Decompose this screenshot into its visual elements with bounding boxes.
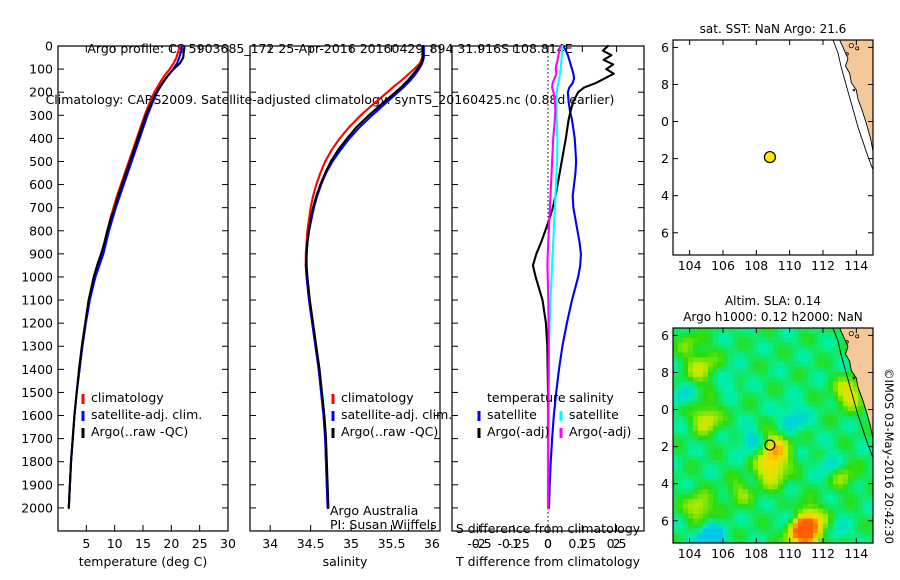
- sla-cell: [823, 338, 829, 343]
- svg-text:0.5: 0.5: [607, 536, 627, 551]
- sla-cell: [733, 348, 739, 353]
- sla-cell: [773, 519, 779, 524]
- sla-cell: [833, 514, 839, 519]
- sla-cell: [748, 533, 754, 538]
- sla-cell: [783, 382, 789, 387]
- sla-cell: [743, 509, 749, 514]
- sla-cell: [833, 489, 839, 494]
- sla-cell: [828, 519, 834, 524]
- sla-cell: [858, 401, 864, 406]
- attribution: Argo AustraliaPI: Susan Wijffels: [330, 503, 437, 532]
- sla-cell: [773, 470, 779, 475]
- sla-cell: [753, 333, 759, 338]
- sla-cell: [808, 528, 814, 533]
- sla-cell: [783, 455, 789, 460]
- sla-cell: [698, 338, 704, 343]
- sla-cell: [683, 401, 689, 406]
- sla-cell: [843, 436, 849, 441]
- sla-cell: [823, 348, 829, 353]
- sla-cell: [688, 499, 694, 504]
- sla-cell: [703, 362, 709, 367]
- sla-cell: [743, 367, 749, 372]
- sla-cell: [788, 465, 794, 470]
- sla-cell: [758, 455, 764, 460]
- sla-cell: [733, 333, 739, 338]
- sla-cell: [813, 475, 819, 480]
- sla-cell: [808, 411, 814, 416]
- sla-cell: [743, 352, 749, 357]
- sla-cell: [818, 431, 824, 436]
- sla-cell: [768, 528, 774, 533]
- sla-cell: [698, 372, 704, 377]
- sla-cell: [748, 465, 754, 470]
- sla-cell: [798, 528, 804, 533]
- sla-cell: [723, 372, 729, 377]
- sla-cell: [833, 499, 839, 504]
- sla-cell: [773, 338, 779, 343]
- sla-cell: [808, 479, 814, 484]
- sla-cell: [828, 367, 834, 372]
- sla-cell: [803, 484, 809, 489]
- sla-cell: [813, 426, 819, 431]
- sla-cell: [768, 377, 774, 382]
- sla-cell: [743, 455, 749, 460]
- sla-cell: [728, 426, 734, 431]
- sla-cell: [798, 392, 804, 397]
- sla-cell: [723, 406, 729, 411]
- sla-cell: [828, 455, 834, 460]
- sla-cell: [768, 499, 774, 504]
- svg-text:700: 700: [29, 200, 53, 215]
- sla-cell: [833, 450, 839, 455]
- sla-cell: [788, 348, 794, 353]
- sla-cell: [728, 367, 734, 372]
- sla-cell: [818, 436, 824, 441]
- sla-cell: [838, 401, 844, 406]
- sla-cell: [728, 411, 734, 416]
- sla-cell: [798, 352, 804, 357]
- sla-cell: [753, 509, 759, 514]
- sla-cell: [783, 411, 789, 416]
- sla-cell: [843, 421, 849, 426]
- sla-cell: [798, 504, 804, 509]
- sla-cell: [808, 372, 814, 377]
- sla-cell: [678, 396, 684, 401]
- sla-cell: [733, 489, 739, 494]
- sla-cell: [673, 465, 679, 470]
- sla-cell: [778, 523, 784, 528]
- profile-plot-area: 0100200300400500600700800900100011001200…: [0, 0, 660, 580]
- sla-cell: [773, 362, 779, 367]
- sla-cell: [688, 352, 694, 357]
- sla-cell: [758, 431, 764, 436]
- sla-cell: [763, 377, 769, 382]
- sla-cell: [733, 445, 739, 450]
- sla-cell: [688, 411, 694, 416]
- sla-cell: [698, 406, 704, 411]
- svg-text:104: 104: [678, 258, 702, 273]
- sla-cell: [708, 426, 714, 431]
- sla-cell: [718, 489, 724, 494]
- sla-cell: [788, 440, 794, 445]
- sla-cell: [693, 328, 699, 333]
- sla-cell: [673, 392, 679, 397]
- sla-cell: [683, 416, 689, 421]
- sla-cell: [743, 489, 749, 494]
- sla-cell: [798, 431, 804, 436]
- sla-cell: [673, 494, 679, 499]
- sla-cell: [853, 460, 859, 465]
- sla-cell: [743, 445, 749, 450]
- sla-cell: [803, 348, 809, 353]
- sla-cell: [723, 387, 729, 392]
- sla-cell: [728, 484, 734, 489]
- sla-cell: [818, 406, 824, 411]
- sla-cell: [758, 348, 764, 353]
- sla-cell: [798, 357, 804, 362]
- sla-cell: [858, 499, 864, 504]
- sla-cell: [858, 479, 864, 484]
- sla-cell: [838, 455, 844, 460]
- sla-cell: [813, 382, 819, 387]
- sla-cell: [773, 396, 779, 401]
- sla-cell: [803, 494, 809, 499]
- sla-cell: [768, 343, 774, 348]
- sla-cell: [728, 523, 734, 528]
- sla-cell: [843, 396, 849, 401]
- sla-cell: [803, 377, 809, 382]
- sla-cell: [788, 509, 794, 514]
- sla-cell: [838, 392, 844, 397]
- sla-cell: [848, 494, 854, 499]
- sla-cell: [863, 499, 869, 504]
- sla-cell: [718, 533, 724, 538]
- sla-cell: [763, 426, 769, 431]
- sla-cell: [783, 499, 789, 504]
- sla-cell: [698, 392, 704, 397]
- sla-cell: [818, 528, 824, 533]
- sla-cell: [763, 494, 769, 499]
- sla-cell: [708, 479, 714, 484]
- svg-text:400: 400: [29, 131, 53, 146]
- sla-cell: [713, 470, 719, 475]
- attribution-line-2: PI: Susan Wijffels: [330, 517, 437, 532]
- sla-cell: [728, 519, 734, 524]
- sla-cell: [798, 396, 804, 401]
- sla-cell: [708, 523, 714, 528]
- sla-cell: [708, 416, 714, 421]
- sla-cell: [708, 489, 714, 494]
- sla-cell: [813, 348, 819, 353]
- sla-cell: [693, 401, 699, 406]
- sla-cell: [788, 377, 794, 382]
- sla-cell: [823, 431, 829, 436]
- sla-cell: [733, 450, 739, 455]
- sla-cell: [738, 440, 744, 445]
- sla-cell: [848, 445, 854, 450]
- sla-cell: [833, 494, 839, 499]
- sla-cell: [863, 489, 869, 494]
- sla-cell: [683, 479, 689, 484]
- sla-cell: [743, 470, 749, 475]
- sla-cell: [713, 519, 719, 524]
- sla-cell: [858, 440, 864, 445]
- sla-cell: [823, 445, 829, 450]
- sla-cell: [808, 343, 814, 348]
- sla-cell: [703, 401, 709, 406]
- sla-cell: [843, 499, 849, 504]
- sla-cell: [748, 406, 754, 411]
- sla-cell: [678, 343, 684, 348]
- sla-cell: [708, 431, 714, 436]
- sla-cell: [673, 431, 679, 436]
- sla-cell: [813, 484, 819, 489]
- sla-cell: [748, 431, 754, 436]
- sla-cell: [808, 470, 814, 475]
- sla-cell: [843, 504, 849, 509]
- sla-cell: [738, 509, 744, 514]
- sla-cell: [768, 455, 774, 460]
- sla-cell: [843, 470, 849, 475]
- sla-cell: [743, 426, 749, 431]
- sla-cell: [833, 465, 839, 470]
- sla-cell: [778, 514, 784, 519]
- sla-cell: [853, 523, 859, 528]
- sla-cell: [698, 333, 704, 338]
- sla-cell: [738, 528, 744, 533]
- sla-cell: [673, 357, 679, 362]
- sla-cell: [808, 431, 814, 436]
- sla-cell: [793, 523, 799, 528]
- sla-cell: [708, 333, 714, 338]
- sla-cell: [808, 352, 814, 357]
- sla-cell: [743, 475, 749, 480]
- svg-text:1100: 1100: [21, 293, 53, 308]
- sla-cell: [803, 343, 809, 348]
- sla-cell: [833, 509, 839, 514]
- sla-cell: [678, 475, 684, 480]
- maps-plot-area: 104106108110112114-26-28-30-32-34-36sat.…: [660, 0, 900, 580]
- sla-cell: [863, 504, 869, 509]
- sla-cell: [838, 338, 844, 343]
- sla-cell: [683, 382, 689, 387]
- sla-cell: [808, 367, 814, 372]
- sla-cell: [783, 484, 789, 489]
- sla-cell: [768, 372, 774, 377]
- sla-cell: [728, 421, 734, 426]
- sla-cell: [798, 514, 804, 519]
- sla-cell: [833, 382, 839, 387]
- sla-cell: [823, 421, 829, 426]
- sla-cell: [778, 479, 784, 484]
- svg-text:112: 112: [811, 546, 835, 561]
- legend-header: salinity: [569, 390, 614, 405]
- sla-cell: [678, 519, 684, 524]
- sla-cell: [693, 519, 699, 524]
- sla-cell: [713, 499, 719, 504]
- legend-header: temperature: [487, 390, 566, 405]
- sla-cell: [803, 533, 809, 538]
- sla-cell: [688, 440, 694, 445]
- sla-cell: [808, 514, 814, 519]
- sla-cell: [718, 431, 724, 436]
- sla-cell: [678, 411, 684, 416]
- sla-cell: [853, 514, 859, 519]
- sla-cell: [718, 455, 724, 460]
- sla-cell: [838, 450, 844, 455]
- sla-cell: [688, 514, 694, 519]
- salinity-legend: climatologysatellite-adj. clim.Argo(..ra…: [333, 390, 452, 439]
- sla-cell: [853, 440, 859, 445]
- sla-cell: [708, 519, 714, 524]
- sla-cell: [823, 377, 829, 382]
- sla-cell: [678, 465, 684, 470]
- sla-cell: [773, 499, 779, 504]
- sla-cell: [828, 528, 834, 533]
- sla-cell: [683, 504, 689, 509]
- sla-cell: [728, 475, 734, 480]
- sla-cell: [703, 367, 709, 372]
- sla-cell: [738, 416, 744, 421]
- sla-cell: [788, 431, 794, 436]
- sla-cell: [703, 494, 709, 499]
- sla-cell: [728, 533, 734, 538]
- sla-cell: [743, 519, 749, 524]
- sla-cell: [708, 509, 714, 514]
- sla-cell: [793, 509, 799, 514]
- sla-cell: [703, 484, 709, 489]
- svg-text:36: 36: [424, 536, 440, 551]
- sla-cell: [748, 455, 754, 460]
- svg-text:2000: 2000: [21, 500, 53, 515]
- sla-cell: [828, 533, 834, 538]
- legend-label: climatology: [341, 390, 414, 405]
- sla-cell: [843, 426, 849, 431]
- sla-cell: [778, 421, 784, 426]
- sla-cell: [818, 362, 824, 367]
- sla-cell: [828, 484, 834, 489]
- sla-cell: [788, 396, 794, 401]
- svg-text:108: 108: [744, 258, 768, 273]
- sla-cell: [698, 465, 704, 470]
- sla-cell: [703, 387, 709, 392]
- sla-cell: [683, 445, 689, 450]
- sla-cell: [808, 362, 814, 367]
- sla-cell: [723, 523, 729, 528]
- svg-text:500: 500: [29, 154, 53, 169]
- sla-cell: [703, 509, 709, 514]
- sla-cell: [688, 460, 694, 465]
- sla-cell: [688, 357, 694, 362]
- sla-cell: [783, 333, 789, 338]
- sla-cell: [783, 504, 789, 509]
- sla-cell: [753, 523, 759, 528]
- sla-cell: [718, 416, 724, 421]
- sla-cell: [683, 343, 689, 348]
- sla-cell: [828, 514, 834, 519]
- sla-cell: [738, 401, 744, 406]
- sla-cell: [833, 372, 839, 377]
- sla-cell: [713, 348, 719, 353]
- sla-cell: [793, 328, 799, 333]
- sla-cell: [853, 426, 859, 431]
- sla-cell: [713, 533, 719, 538]
- sla-cell: [848, 475, 854, 480]
- sla-cell: [723, 377, 729, 382]
- sla-cell: [683, 514, 689, 519]
- sla-cell: [703, 421, 709, 426]
- sla-cell: [728, 372, 734, 377]
- sla-cell: [748, 475, 754, 480]
- sla-cell: [698, 440, 704, 445]
- sla-cell: [678, 401, 684, 406]
- sla-cell: [843, 445, 849, 450]
- sla-cell: [833, 348, 839, 353]
- svg-text:34.5: 34.5: [297, 536, 325, 551]
- sla-cell: [718, 528, 724, 533]
- sla-cell: [823, 436, 829, 441]
- sla-cell: [698, 523, 704, 528]
- sla-cell: [783, 445, 789, 450]
- map-panels: 104106108110112114-26-28-30-32-34-36sat.…: [660, 0, 900, 580]
- sla-cell: [788, 484, 794, 489]
- sla-cell: [813, 411, 819, 416]
- sla-cell: [708, 450, 714, 455]
- sla-cell: [838, 396, 844, 401]
- difference-profile: -2-1012T difference from climatology-0.5…: [452, 46, 644, 569]
- sla-cell: [683, 328, 689, 333]
- sla-cell: [793, 348, 799, 353]
- sla-cell: [793, 357, 799, 362]
- sla-cell: [678, 416, 684, 421]
- sla-cell: [783, 406, 789, 411]
- sla-cell: [758, 499, 764, 504]
- sla-cell: [758, 416, 764, 421]
- sla-cell: [673, 504, 679, 509]
- sla-cell: [853, 509, 859, 514]
- sla-cell: [713, 416, 719, 421]
- sla-cell: [743, 514, 749, 519]
- svg-text:114: 114: [844, 546, 868, 561]
- sla-cell: [673, 499, 679, 504]
- sla-cell: [823, 479, 829, 484]
- sla-cell: [708, 392, 714, 397]
- sla-cell: [753, 411, 759, 416]
- sla-cell: [693, 450, 699, 455]
- sla-cell: [833, 436, 839, 441]
- sla-cell: [793, 338, 799, 343]
- sla-cell: [683, 333, 689, 338]
- sla-cell: [853, 479, 859, 484]
- sla-cell: [793, 372, 799, 377]
- sla-cell: [733, 401, 739, 406]
- sla-cell: [728, 479, 734, 484]
- sla-cell: [798, 465, 804, 470]
- sla-cell: [783, 392, 789, 397]
- sla-cell: [738, 421, 744, 426]
- sla-cell: [793, 475, 799, 480]
- sla-cell: [733, 455, 739, 460]
- svg-text:1300: 1300: [21, 339, 53, 354]
- sla-cell: [718, 460, 724, 465]
- sla-cell: [823, 406, 829, 411]
- sla-cell: [863, 460, 869, 465]
- sla-cell: [843, 455, 849, 460]
- svg-text:114: 114: [844, 258, 868, 273]
- sla-cell: [853, 494, 859, 499]
- sla-cell: [813, 455, 819, 460]
- sla-cell: [698, 509, 704, 514]
